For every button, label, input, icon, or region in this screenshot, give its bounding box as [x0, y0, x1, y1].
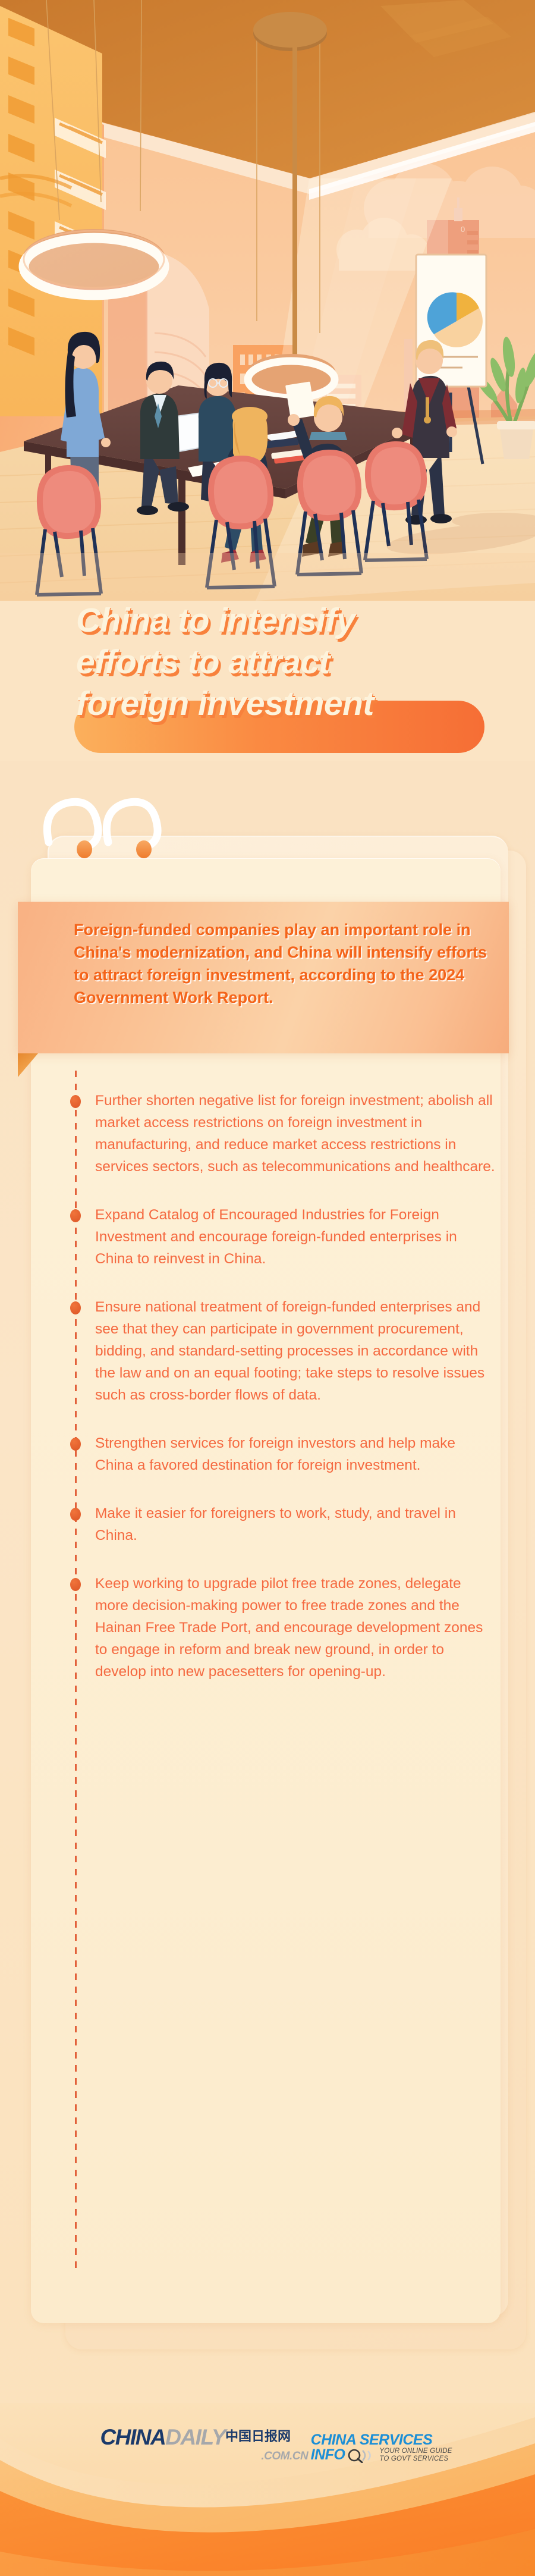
binder-rings	[36, 787, 184, 862]
bullet-dot-icon	[70, 1438, 81, 1451]
csi-logo-line-2: INFO	[311, 2446, 345, 2464]
pendant-ring-light-1	[23, 229, 165, 297]
list-item-text: Ensure national treatment of foreign-fun…	[95, 1296, 496, 1406]
page-title: China to intensify efforts to attract fo…	[76, 600, 516, 724]
magnifier-icon	[347, 2448, 374, 2463]
intro-text: Foreign-funded companies play an importa…	[74, 918, 490, 1009]
binder-ring-icon-1	[47, 802, 98, 858]
page-title-line-1: China to intensify	[76, 600, 516, 641]
list-item-text: Make it easier for foreigners to work, s…	[95, 1502, 496, 1546]
bullet-dot-icon	[70, 1095, 81, 1108]
bullet-dot-icon	[70, 1578, 81, 1591]
bullet-dot-icon	[70, 1209, 81, 1222]
china-daily-logo-chinese: 中国日报网	[225, 2429, 291, 2444]
china-services-info-logo[interactable]: CHINA SERVICES INFO YOUR ONLINE GUIDE TO…	[311, 2431, 452, 2464]
bullet-dot-icon	[70, 1508, 81, 1521]
page-title-line-3: foreign investment	[76, 683, 516, 724]
csi-tagline: YOUR ONLINE GUIDE TO GOVT SERVICES	[379, 2448, 452, 2463]
hero-illustration: 0	[0, 0, 535, 601]
intro-banner: Foreign-funded companies play an importa…	[18, 902, 509, 1053]
list-item: Expand Catalog of Encouraged Industries …	[0, 1204, 535, 1270]
headline-block: China to intensify efforts to attract fo…	[0, 595, 535, 773]
csi-tagline-line-1: YOUR ONLINE GUIDE	[379, 2448, 452, 2455]
page-title-line-2: efforts to attract	[76, 641, 516, 683]
svg-text:0: 0	[461, 225, 465, 234]
list-item: Keep working to upgrade pilot free trade…	[0, 1573, 535, 1683]
csi-tagline-line-2: TO GOVT SERVICES	[379, 2455, 448, 2462]
infographic-page: 0	[0, 0, 535, 2576]
footer: CHINADAILY中国日报网 .COM.CN CHINA SERVICES I…	[0, 2403, 535, 2576]
china-daily-logo-domain: .COM.CN	[261, 2450, 308, 2462]
office-scene-svg: 0	[0, 0, 535, 601]
list-item-text: Keep working to upgrade pilot free trade…	[95, 1573, 496, 1683]
list-item: Ensure national treatment of foreign-fun…	[0, 1296, 535, 1406]
binder-ring-icon-2	[106, 802, 158, 858]
bullet-dot-icon	[70, 1301, 81, 1314]
list-item-text: Further shorten negative list for foreig…	[95, 1090, 496, 1178]
policy-measures-list: Further shorten negative list for foreig…	[0, 1090, 535, 1709]
list-item: Further shorten negative list for foreig…	[0, 1090, 535, 1178]
china-daily-logo-china: CHINA	[100, 2425, 166, 2449]
list-item: Strengthen services for foreign investor…	[0, 1432, 535, 1476]
list-item-text: Expand Catalog of Encouraged Industries …	[95, 1204, 496, 1270]
list-item: Make it easier for foreigners to work, s…	[0, 1502, 535, 1546]
footer-logos: CHINADAILY中国日报网 .COM.CN CHINA SERVICES I…	[0, 2416, 535, 2464]
china-daily-logo-daily: DAILY	[165, 2425, 225, 2449]
list-item-text: Strengthen services for foreign investor…	[95, 1432, 496, 1476]
china-daily-logo[interactable]: CHINADAILY中国日报网 .COM.CN	[83, 2425, 308, 2463]
